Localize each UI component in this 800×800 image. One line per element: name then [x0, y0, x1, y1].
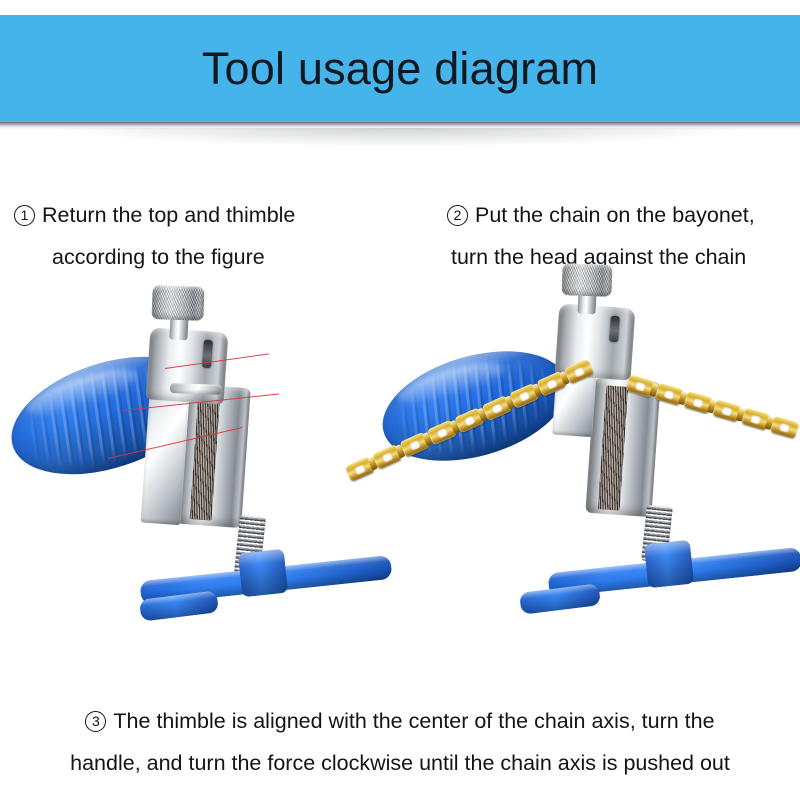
- header-banner-fill: Tool usage diagram: [0, 15, 800, 122]
- step-2-line1-text: Put the chain on the bayonet,: [475, 203, 755, 227]
- figures-area: [0, 268, 800, 688]
- step-1-line1-text: Return the top and thimble: [42, 203, 295, 227]
- page-title: Tool usage diagram: [202, 46, 598, 91]
- knurled-adjust-knob: [151, 285, 204, 321]
- blue-t-handle-hub: [238, 549, 288, 598]
- bayonet-slot: [609, 316, 620, 343]
- step-3-caption: 3The thimble is aligned with the center …: [0, 700, 800, 784]
- step-1-line1: 1Return the top and thimble: [14, 194, 295, 236]
- step-3-number-badge: 3: [85, 711, 106, 732]
- blue-t-handle-hub: [644, 540, 694, 589]
- step-3-line1-text: The thimble is aligned with the center o…: [113, 709, 714, 733]
- figure-left: [0, 268, 400, 688]
- blue-t-handle-tip: [519, 583, 601, 615]
- step-1-number-badge: 1: [14, 205, 35, 226]
- step-3-line1: 3The thimble is aligned with the center …: [0, 700, 800, 742]
- page-root: Tool usage diagram 1Return the top and t…: [0, 0, 800, 800]
- thimble-pin: [170, 383, 222, 395]
- chain-link: [770, 416, 800, 440]
- step-1-caption: 1Return the top and thimble according to…: [14, 194, 295, 278]
- header-banner: Tool usage diagram: [0, 15, 800, 127]
- step-2-number-badge: 2: [447, 205, 468, 226]
- bayonet-slot: [202, 340, 213, 369]
- figure-right: [370, 268, 800, 688]
- step-3-line2: handle, and turn the force clockwise unt…: [0, 742, 800, 784]
- banner-shadow-soft: [0, 128, 800, 154]
- step-2-line1: 2Put the chain on the bayonet,: [447, 194, 755, 236]
- knurled-adjust-knob: [561, 263, 612, 297]
